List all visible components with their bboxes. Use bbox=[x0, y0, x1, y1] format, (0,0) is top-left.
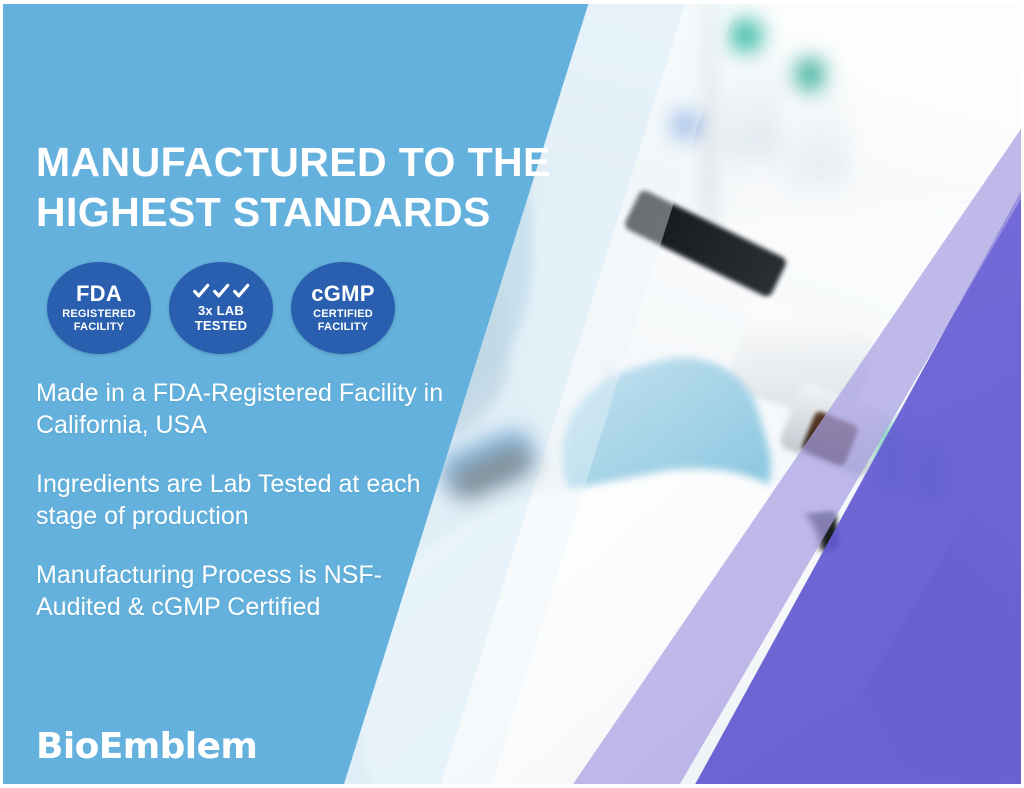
badge-lab-tested-label: 3x LAB TESTED bbox=[195, 304, 247, 333]
badge-cgmp-title: cGMP bbox=[311, 283, 375, 305]
headline-line-2: HIGHEST STANDARDS bbox=[36, 189, 491, 235]
badge-cgmp-subtitle-line-2: FACILITY bbox=[318, 321, 369, 333]
badge-cgmp-subtitle-line-1: CERTIFIED bbox=[313, 308, 373, 320]
badge-cgmp-subtitle: CERTIFIED FACILITY bbox=[313, 308, 373, 333]
content-layer: MANUFACTURED TO THE HIGHEST STANDARDS FD… bbox=[3, 4, 1021, 784]
advertisement-canvas: MANUFACTURED TO THE HIGHEST STANDARDS FD… bbox=[0, 0, 1024, 788]
benefit-item-1: Made in a FDA-Registered Facility in Cal… bbox=[36, 378, 456, 441]
triple-check-icon bbox=[192, 282, 250, 300]
certification-badge-group: FDA REGISTERED FACILITY bbox=[47, 262, 395, 354]
benefit-item-2: Ingredients are Lab Tested at each stage… bbox=[36, 469, 456, 532]
check-icon-1 bbox=[192, 282, 210, 300]
badge-fda-title: FDA bbox=[76, 283, 122, 305]
badge-fda-registered-facility: FDA REGISTERED FACILITY bbox=[47, 262, 151, 354]
badge-fda-subtitle-line-1: REGISTERED bbox=[62, 308, 136, 320]
page-title: MANUFACTURED TO THE HIGHEST STANDARDS bbox=[36, 137, 576, 237]
headline-line-1: MANUFACTURED TO THE bbox=[36, 139, 551, 185]
badge-lab-tested-line-2: TESTED bbox=[195, 318, 247, 333]
check-icon-2 bbox=[212, 282, 230, 300]
image-stage: MANUFACTURED TO THE HIGHEST STANDARDS FD… bbox=[3, 4, 1021, 784]
badge-lab-tested-line-1: 3x LAB bbox=[198, 303, 244, 318]
benefit-item-3: Manufacturing Process is NSF-Audited & c… bbox=[36, 560, 456, 623]
badge-fda-subtitle: REGISTERED FACILITY bbox=[62, 308, 136, 333]
badge-3x-lab-tested: 3x LAB TESTED bbox=[169, 262, 273, 354]
benefit-list: Made in a FDA-Registered Facility in Cal… bbox=[36, 378, 456, 623]
brand-logo: BioEmblem bbox=[36, 726, 257, 767]
badge-fda-subtitle-line-2: FACILITY bbox=[74, 321, 125, 333]
badge-cgmp-certified-facility: cGMP CERTIFIED FACILITY bbox=[291, 262, 395, 354]
check-icon-3 bbox=[232, 282, 250, 300]
